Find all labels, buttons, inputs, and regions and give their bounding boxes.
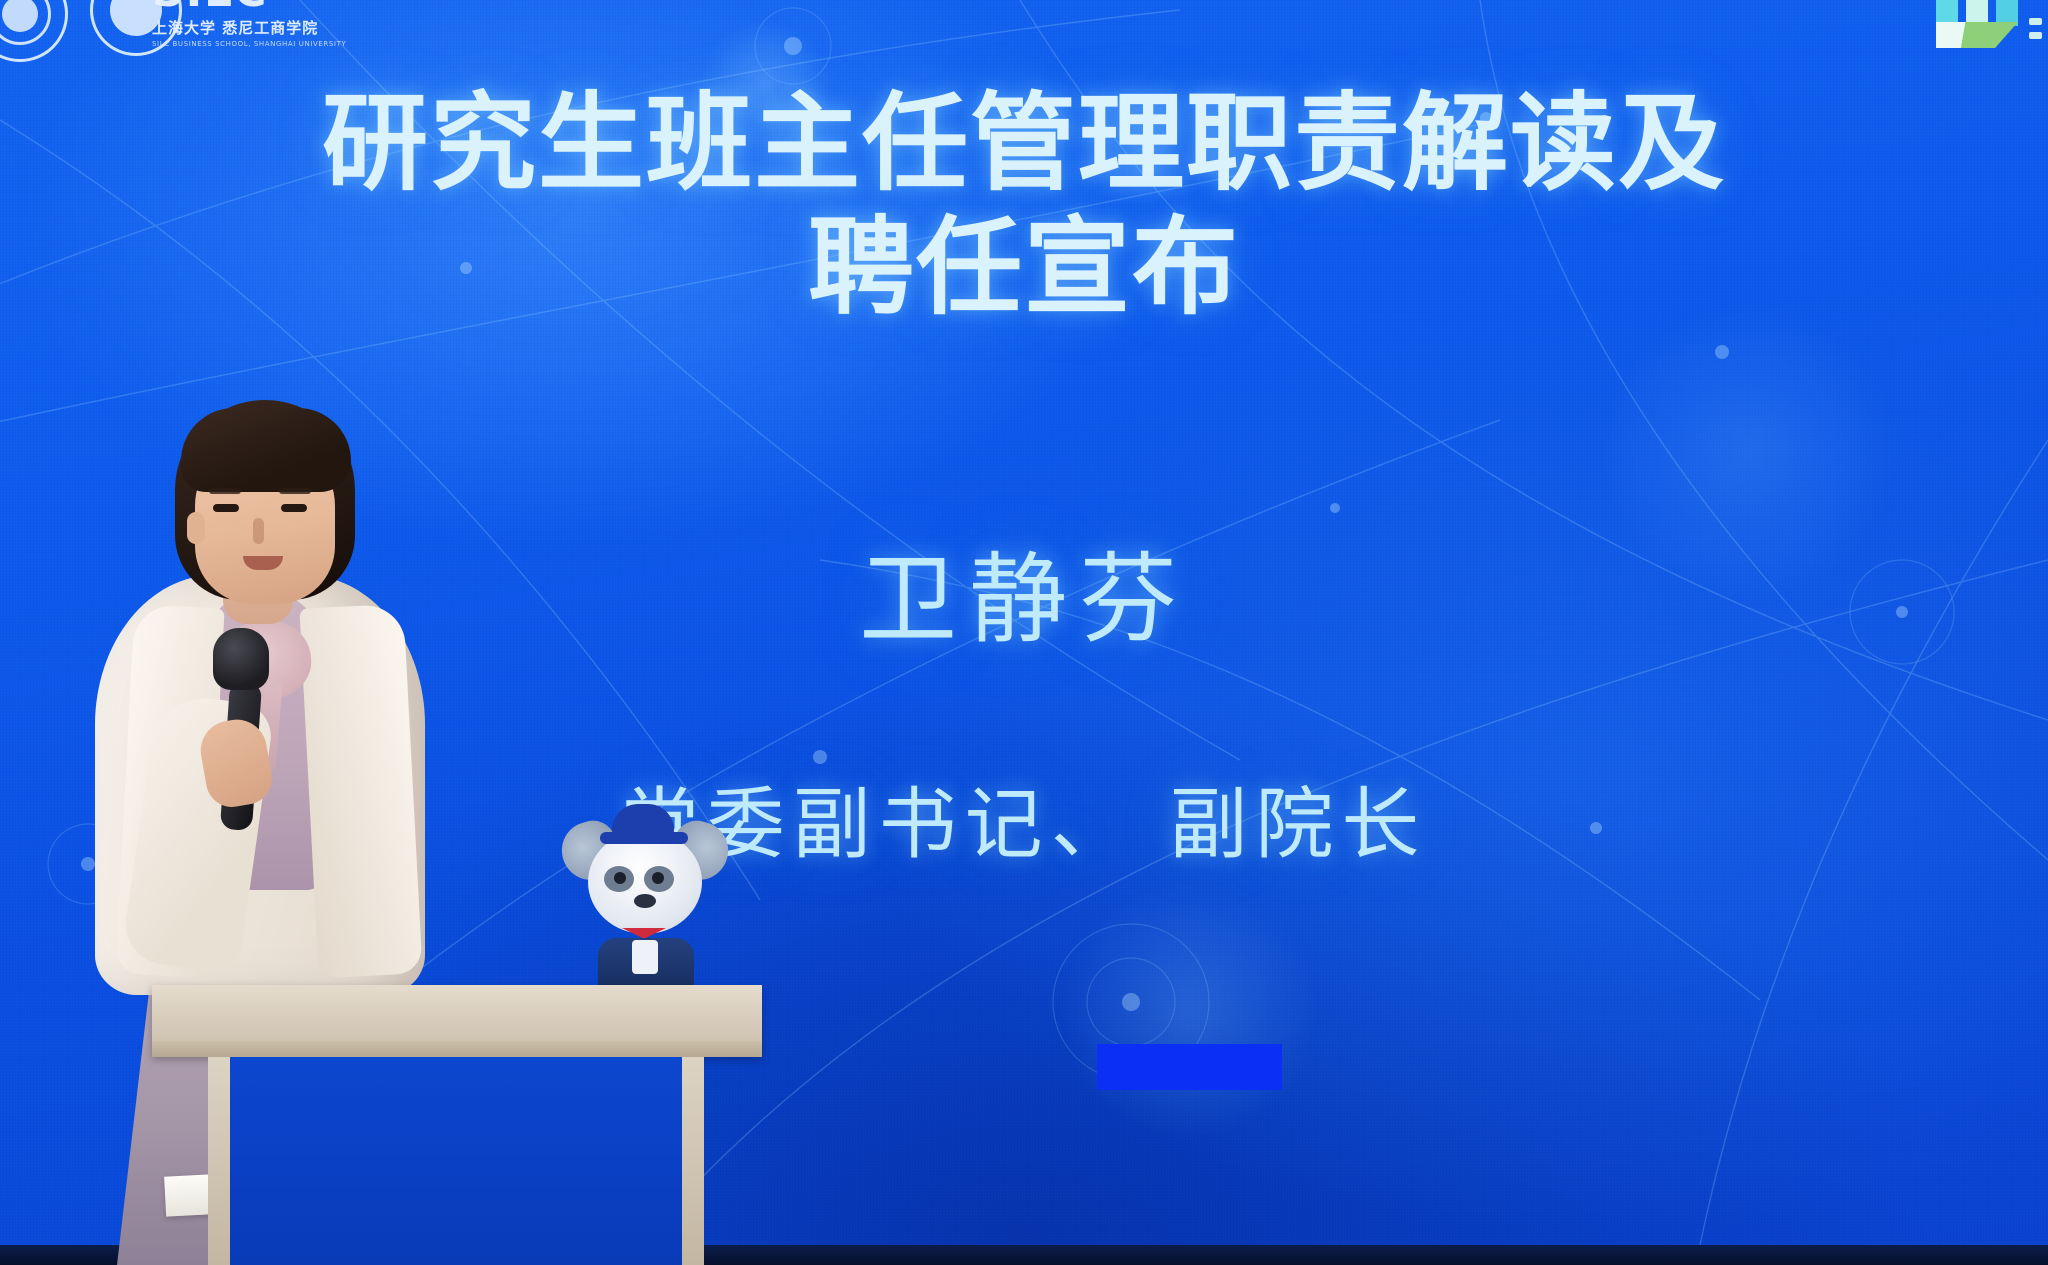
panda-mascot-plush <box>560 800 730 990</box>
speaker-eye-right <box>281 504 307 512</box>
lectern-front-panel <box>230 1057 682 1265</box>
speaker-fringe <box>181 408 351 492</box>
speaker-eyebrow-left <box>209 488 241 494</box>
slide-title-line-2: 聘任宣布 <box>0 212 2048 323</box>
speaker-eyebrow-right <box>279 488 311 494</box>
mascot-pupil-left <box>614 872 626 884</box>
mascot-nose <box>634 894 656 908</box>
mascot-hat-brim <box>600 832 688 844</box>
lectern-leg-left <box>208 1057 230 1265</box>
slide-title-line-1: 研究生班主任管理职责解读及 <box>0 88 2048 199</box>
microphone-icon <box>213 628 269 690</box>
lectern-top <box>152 985 762 1057</box>
speaker-eye-left <box>213 504 239 512</box>
cardigan-lapel-right <box>299 604 422 979</box>
speaker-ear <box>187 512 205 544</box>
lectern-leg-right <box>682 1057 704 1265</box>
speaker-nose <box>253 518 264 544</box>
mascot-shirt <box>632 940 658 974</box>
mascot-pupil-right <box>652 872 664 884</box>
wooden-lectern <box>152 985 762 1265</box>
slide-accent-block <box>1097 1044 1282 1090</box>
conference-stage-photo: SILC 上海大学 悉尼工商学院 SILC BUSINESS SCHOOL, S… <box>0 0 2048 1265</box>
